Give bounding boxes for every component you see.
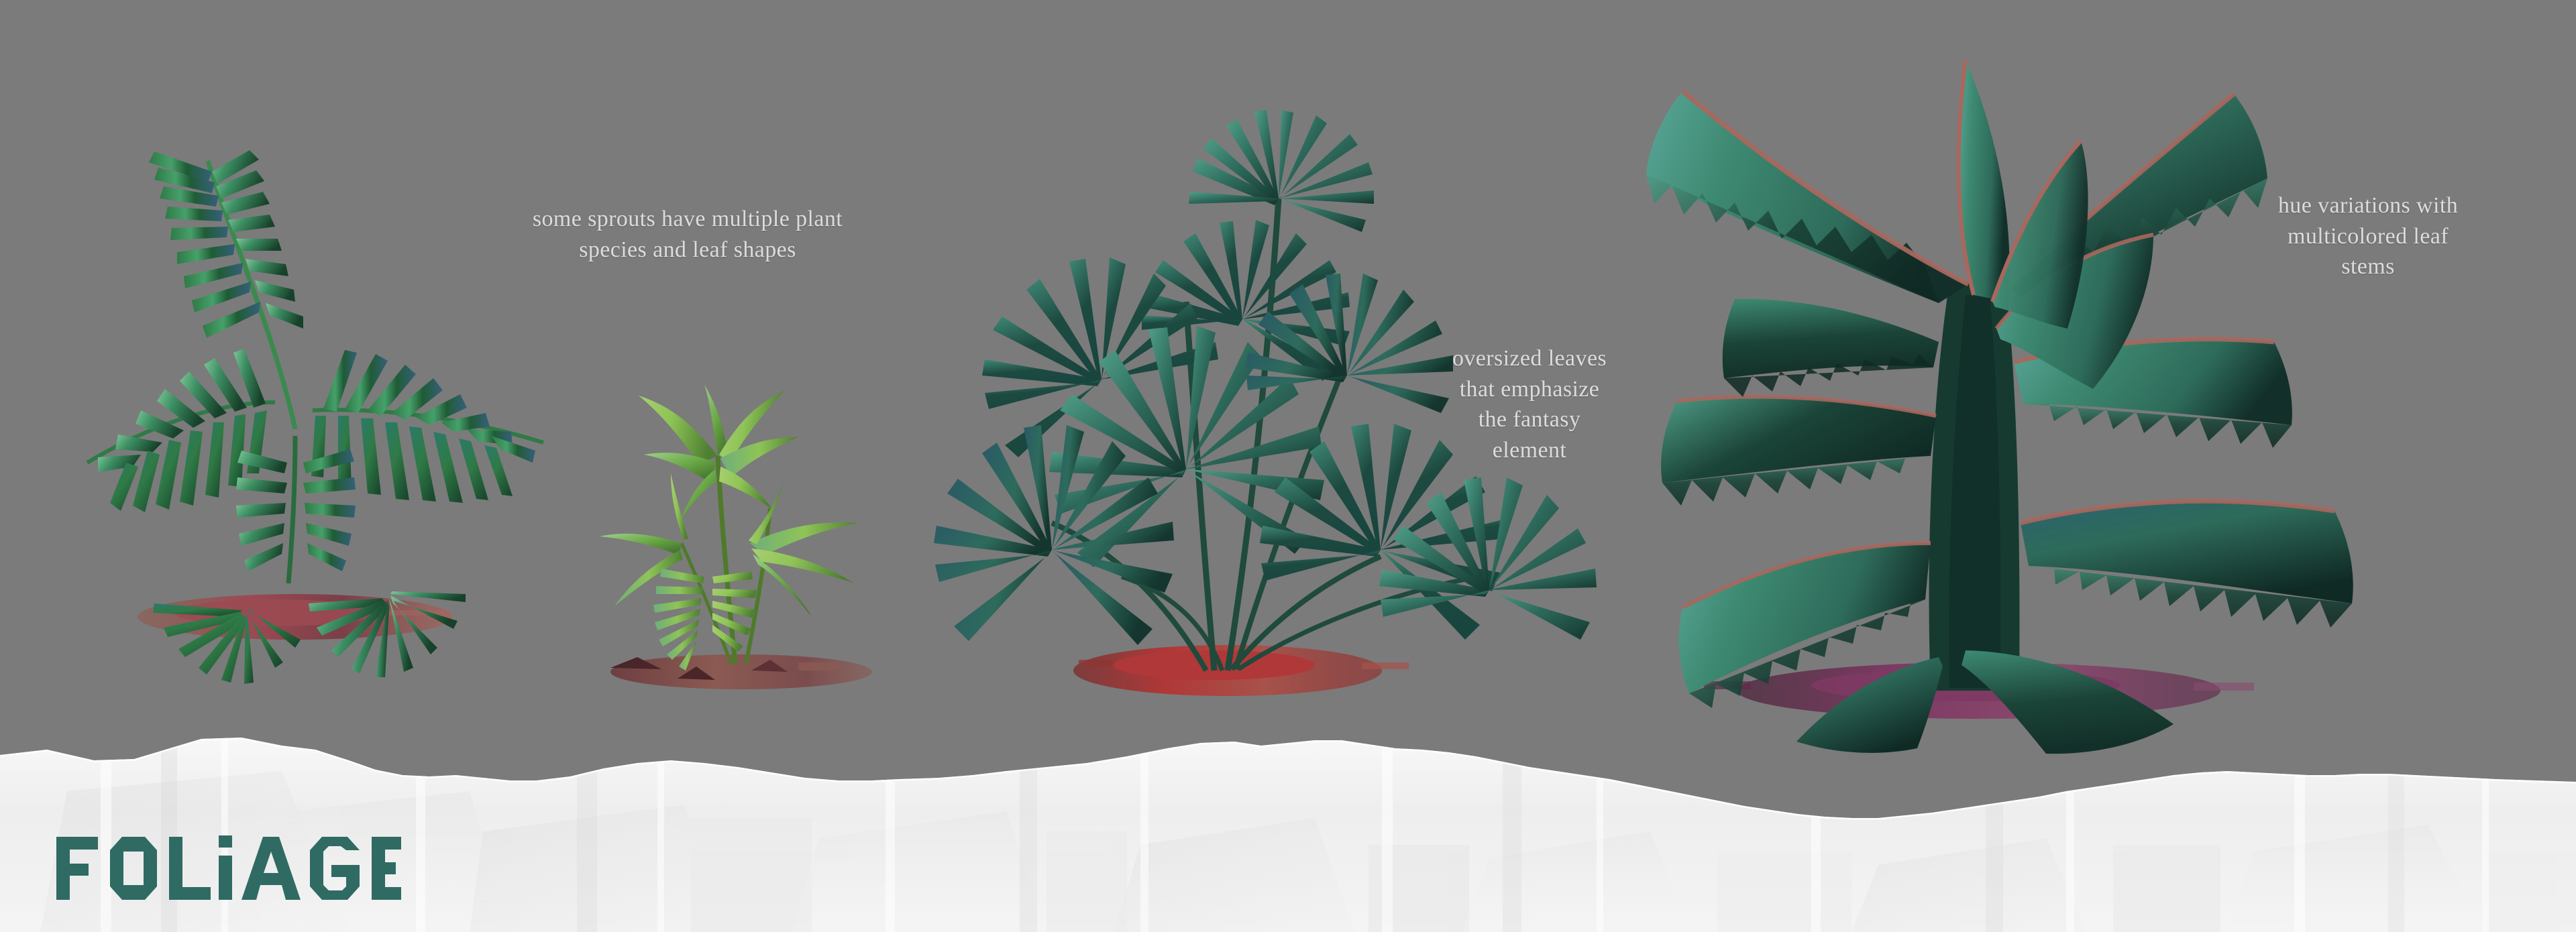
wordmark-letter-f (56, 837, 98, 900)
palm-frond-center (236, 436, 356, 583)
foliage-concept-sheet: some sprouts have multiple plant species… (0, 0, 2576, 932)
foliage-wordmark (54, 831, 402, 905)
sapling-side-spray-left (600, 473, 688, 606)
plant-young-sprout (597, 375, 879, 697)
wordmark-letter-e (372, 837, 401, 900)
wordmark-letter-l (169, 837, 211, 900)
sapling-lower-frond (653, 569, 704, 671)
banana-leaf-center (1958, 60, 2010, 302)
annotation-hue-variations: hue variations with multicolored leaf st… (2234, 190, 2502, 282)
banana-leaf-mid-left (1661, 397, 1936, 506)
banana-leaf-upper-left-dark (1723, 299, 1939, 397)
wordmark-letter-o (110, 837, 157, 900)
wordmark-letter-i (219, 835, 232, 900)
plant-banana (1563, 13, 2395, 771)
annotation-oversized-leaves: oversized leaves that emphasize the fant… (1422, 343, 1637, 465)
torn-paper-strip (0, 711, 2576, 932)
fan-leaf-cluster (1189, 110, 1374, 232)
banana-leaf-top-left (1646, 91, 1968, 303)
annotation-sprouts: some sprouts have multiple plant species… (470, 204, 906, 265)
ground-patch (610, 654, 872, 689)
banana-pseudostem (1929, 282, 2020, 691)
wordmark-letter-g (310, 837, 360, 900)
wordmark-letter-a (241, 837, 301, 900)
banana-leaf-lower-right (2021, 501, 2353, 628)
